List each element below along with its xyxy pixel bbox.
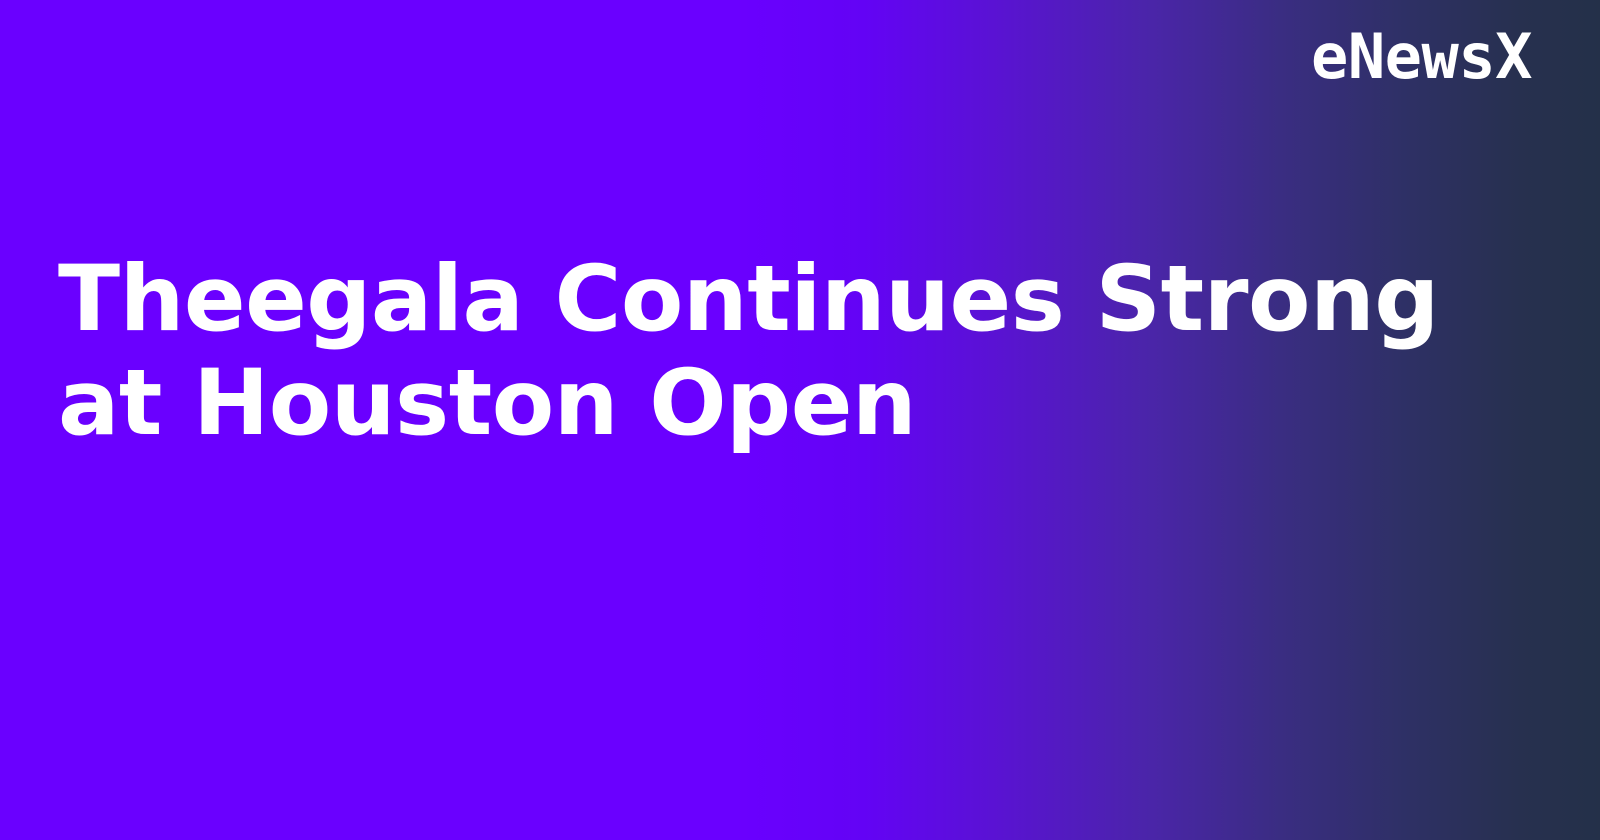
brand-logo[interactable]: eNewsX [1311, 26, 1532, 88]
article-hero-card: eNewsX Theegala Continues Strong at Hous… [0, 0, 1600, 840]
page-title: Theegala Continues Strong at Houston Ope… [58, 248, 1488, 456]
article-body-area [58, 470, 1532, 800]
